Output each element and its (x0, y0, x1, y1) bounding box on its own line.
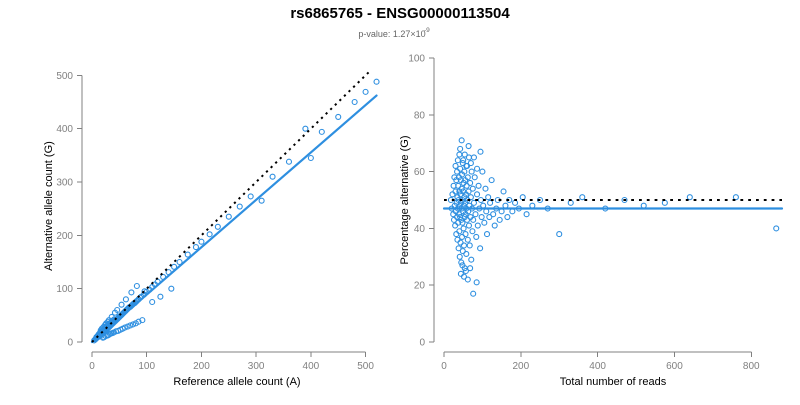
y-axis-tick-label: 80 (414, 110, 426, 121)
x-axis-tick-label: 500 (357, 361, 374, 372)
x-axis-title: Reference allele count (A) (173, 376, 300, 388)
y-axis-tick-label: 100 (408, 54, 425, 65)
x-axis-tick-label: 600 (666, 361, 683, 372)
figure-subtitle-text: p-value: 1.27×10 (358, 29, 425, 39)
x-axis-tick-label: 400 (589, 361, 606, 372)
y-axis-tick-label: 60 (414, 167, 426, 178)
y-axis-tick-label: 0 (419, 338, 425, 349)
chart-svg: rs6865765 - ENSG00000113504 p-value: 1.2… (0, 0, 800, 400)
x-axis-tick-label: 0 (441, 361, 447, 372)
x-axis-tick-label: 800 (743, 361, 760, 372)
y-axis-tick-label: 20 (414, 281, 426, 292)
y-axis-tick-label: 400 (56, 124, 73, 135)
x-axis-tick-label: 200 (512, 361, 529, 372)
figure-title: rs6865765 - ENSG00000113504 (290, 5, 510, 22)
y-axis-title: Alternative allele count (G) (43, 141, 55, 271)
y-axis-tick-label: 0 (67, 338, 73, 349)
y-axis-tick-label: 40 (414, 224, 426, 235)
y-axis-title: Percentage alternative (G) (399, 135, 411, 264)
x-axis-tick-label: 0 (89, 361, 95, 372)
y-axis-tick-label: 100 (56, 284, 73, 295)
x-axis-title: Total number of reads (560, 376, 667, 388)
figure-container: rs6865765 - ENSG00000113504 p-value: 1.2… (0, 0, 800, 400)
y-axis-tick-label: 200 (56, 231, 73, 242)
x-axis-tick-label: 300 (248, 361, 265, 372)
x-axis-tick-label: 400 (303, 361, 320, 372)
y-axis-tick-label: 500 (56, 71, 73, 82)
figure-subtitle: p-value: 1.27×10 -9 (358, 27, 430, 39)
y-axis-tick-label: 300 (56, 178, 73, 189)
x-axis-tick-label: 100 (138, 361, 155, 372)
x-axis-tick-label: 200 (193, 361, 210, 372)
figure-subtitle-exponent: -9 (424, 27, 430, 34)
